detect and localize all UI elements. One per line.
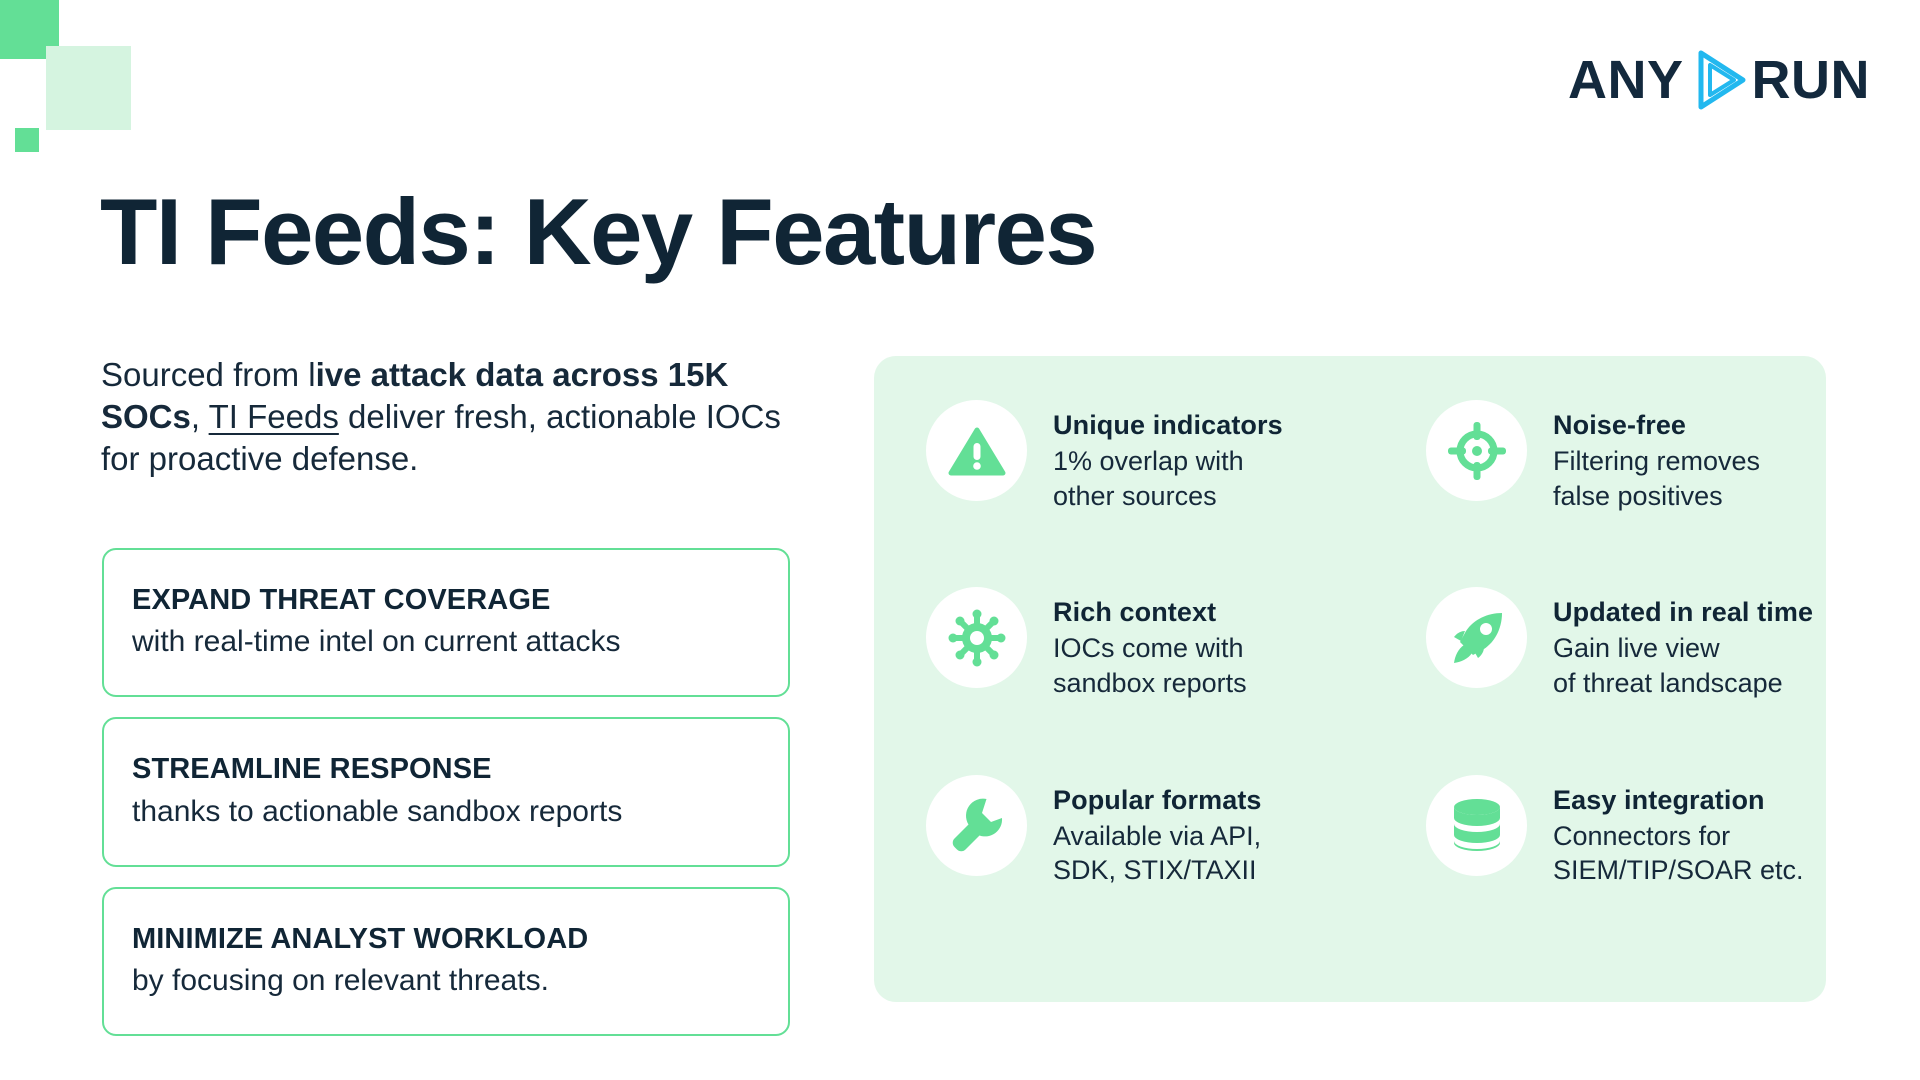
feature-description: 1% overlap with other sources [1053, 444, 1283, 513]
rocket-icon [1426, 587, 1527, 688]
feature-item[interactable]: Noise-free Filtering removes false posit… [1426, 398, 1878, 585]
features-panel: Unique indicators 1% overlap with other … [874, 356, 1826, 1002]
feature-item[interactable]: Unique indicators 1% overlap with other … [926, 398, 1426, 585]
warning-triangle-icon [926, 400, 1027, 501]
play-triangle-logo-icon [1686, 48, 1750, 112]
benefit-card-list: EXPAND THREAT COVERAGE with real-time in… [102, 548, 790, 1056]
feature-text: Popular formats Available via API, SDK, … [1053, 773, 1262, 888]
feature-title: Noise-free [1553, 408, 1760, 442]
benefit-card-title: STREAMLINE RESPONSE [132, 751, 760, 787]
feature-item[interactable]: Rich context IOCs come with sandbox repo… [926, 585, 1426, 772]
feature-title: Popular formats [1053, 783, 1262, 817]
decor-square-small-green [15, 128, 39, 152]
intro-text-part1: Sourced from l [101, 356, 316, 393]
feature-description: Available via API, SDK, STIX/TAXII [1053, 819, 1262, 888]
feature-description: IOCs come with sandbox reports [1053, 631, 1247, 700]
virus-icon [926, 587, 1027, 688]
benefit-card-subtitle: thanks to actionable sandbox reports [132, 792, 760, 831]
features-grid: Unique indicators 1% overlap with other … [874, 356, 1826, 1002]
benefit-card[interactable]: MINIMIZE ANALYST WORKLOAD by focusing on… [102, 887, 790, 1036]
feature-item[interactable]: Updated in real time Gain live view of t… [1426, 585, 1878, 772]
crosshair-target-icon [1426, 400, 1527, 501]
database-icon [1426, 775, 1527, 876]
feature-description: Filtering removes false positives [1553, 444, 1760, 513]
feature-text: Noise-free Filtering removes false posit… [1553, 398, 1760, 513]
feature-text: Updated in real time Gain live view of t… [1553, 585, 1813, 700]
feature-title: Rich context [1053, 595, 1247, 629]
feature-item[interactable]: Easy integration Connectors for SIEM/TIP… [1426, 773, 1878, 960]
benefit-card-title: MINIMIZE ANALYST WORKLOAD [132, 921, 760, 957]
benefit-card-subtitle: by focusing on relevant threats. [132, 961, 760, 1000]
feature-text: Rich context IOCs come with sandbox repo… [1053, 585, 1247, 700]
feature-description: Gain live view of threat landscape [1553, 631, 1813, 700]
feature-text: Easy integration Connectors for SIEM/TIP… [1553, 773, 1804, 888]
intro-text-part2: , [191, 398, 209, 435]
feature-item[interactable]: Popular formats Available via API, SDK, … [926, 773, 1426, 960]
decor-square-pale-green [46, 46, 131, 130]
feature-description: Connectors for SIEM/TIP/SOAR etc. [1553, 819, 1804, 888]
feature-title: Updated in real time [1553, 595, 1813, 629]
benefit-card[interactable]: STREAMLINE RESPONSE thanks to actionable… [102, 717, 790, 866]
benefit-card-subtitle: with real-time intel on current attacks [132, 622, 760, 661]
benefit-card-title: EXPAND THREAT COVERAGE [132, 582, 760, 618]
logo-text-run: RUN [1752, 53, 1871, 107]
ti-feeds-link[interactable]: TI Feeds [209, 398, 339, 435]
slide-root: ANY RUN TI Feeds: Key Features Sourced f… [0, 0, 1920, 1080]
feature-title: Easy integration [1553, 783, 1804, 817]
feature-text: Unique indicators 1% overlap with other … [1053, 398, 1283, 513]
benefit-card[interactable]: EXPAND THREAT COVERAGE with real-time in… [102, 548, 790, 697]
page-title: TI Feeds: Key Features [100, 183, 1096, 282]
intro-paragraph: Sourced from live attack data across 15K… [101, 354, 816, 481]
logo-text-any: ANY [1568, 53, 1684, 107]
wrench-icon [926, 775, 1027, 876]
feature-title: Unique indicators [1053, 408, 1283, 442]
anyrun-logo[interactable]: ANY RUN [1568, 48, 1870, 112]
